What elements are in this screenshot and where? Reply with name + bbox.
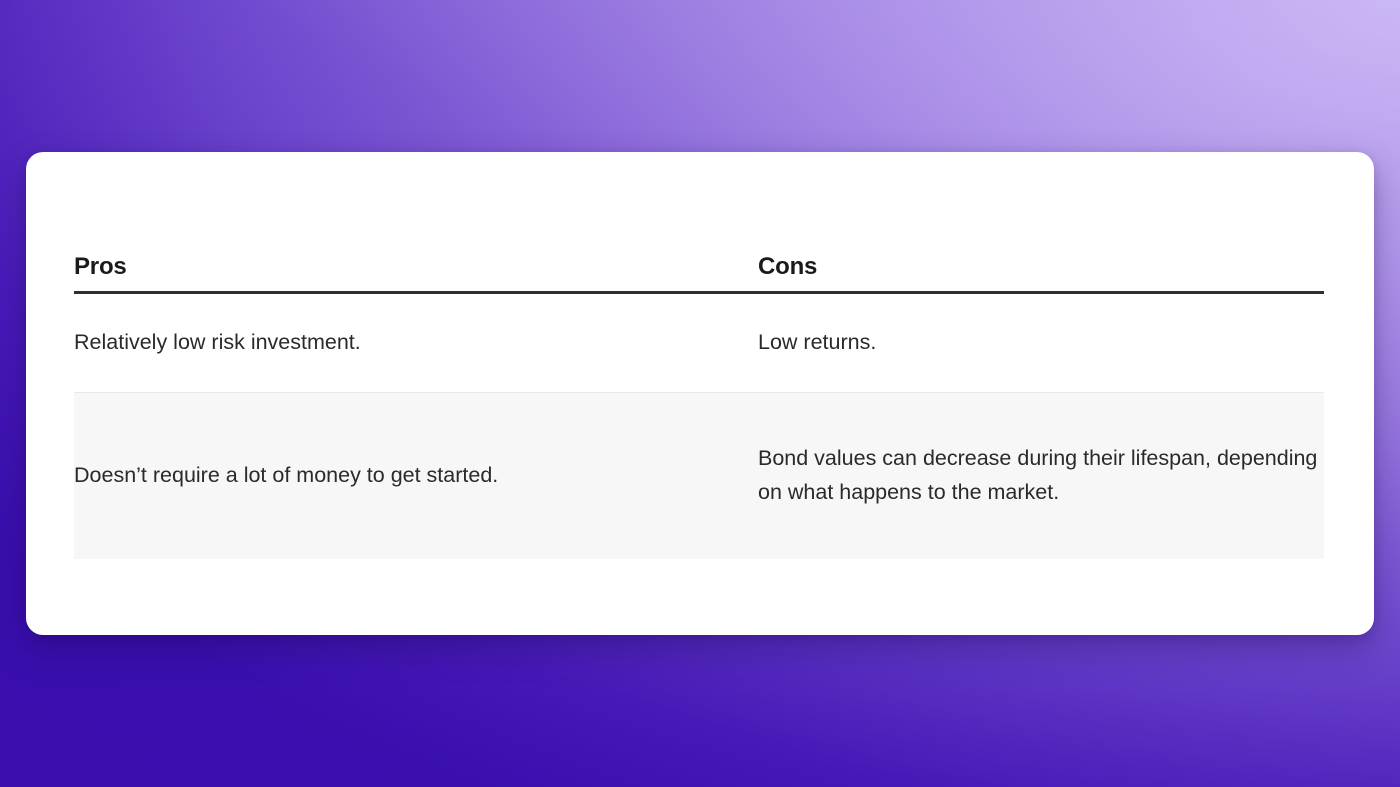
table-row: Relatively low risk investment. Low retu… (74, 292, 1324, 392)
cell-cons-2: Bond values can decrease during their li… (758, 392, 1324, 559)
column-header-pros: Pros (74, 152, 758, 292)
chart-card: Pros Cons Relatively low risk investment… (26, 152, 1374, 635)
table-header: Pros Cons (74, 152, 1324, 292)
table-row: Doesn’t require a lot of money to get st… (74, 392, 1324, 559)
pros-cons-table-container: Pros Cons Relatively low risk investment… (74, 152, 1324, 559)
column-header-cons: Cons (758, 152, 1324, 292)
table-body: Relatively low risk investment. Low retu… (74, 292, 1324, 559)
cell-pros-1: Relatively low risk investment. (74, 292, 758, 392)
table-header-row: Pros Cons (74, 152, 1324, 292)
pros-cons-table: Pros Cons Relatively low risk investment… (74, 152, 1324, 559)
cell-pros-2: Doesn’t require a lot of money to get st… (74, 392, 758, 559)
cell-cons-1: Low returns. (758, 292, 1324, 392)
